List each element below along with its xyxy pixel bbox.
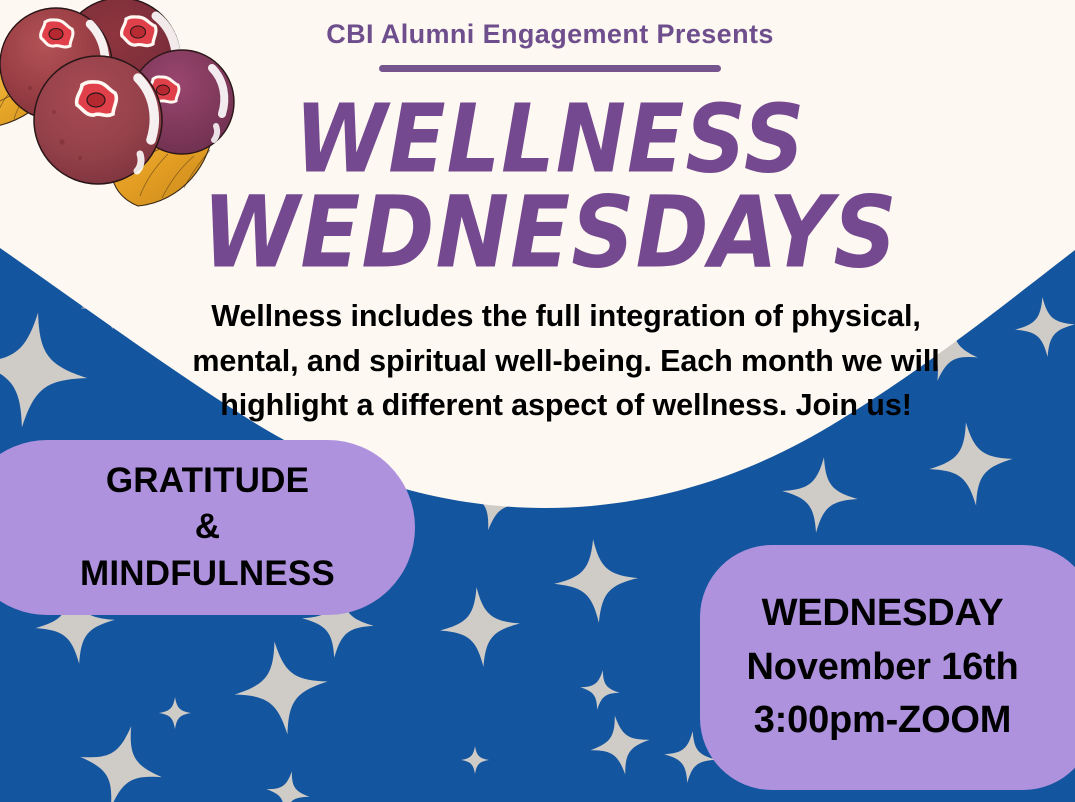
event-date: November 16th bbox=[747, 641, 1019, 695]
topic-line-3: MINDFULNESS bbox=[80, 551, 335, 598]
body-paragraph: Wellness includes the full integration o… bbox=[190, 294, 942, 428]
event-time-platform: 3:00pm-ZOOM bbox=[754, 694, 1012, 748]
title-line-2: WEDNESDAYS bbox=[180, 185, 920, 282]
presenter-line: CBI Alumni Engagement Presents bbox=[210, 18, 890, 50]
header-block: CBI Alumni Engagement Presents bbox=[210, 18, 890, 72]
berry-front-center bbox=[34, 56, 162, 184]
event-day: WEDNESDAY bbox=[762, 587, 1004, 641]
event-datetime-badge: WEDNESDAY November 16th 3:00pm-ZOOM bbox=[700, 545, 1075, 790]
divider-rule bbox=[379, 65, 721, 72]
title-line-1: WELLNESS bbox=[180, 93, 920, 185]
poster-canvas: CBI Alumni Engagement Presents WELLNESS … bbox=[0, 0, 1075, 802]
topic-line-2: & bbox=[195, 504, 220, 551]
topic-badge: GRATITUDE & MINDFULNESS bbox=[0, 440, 415, 615]
topic-line-1: GRATITUDE bbox=[106, 458, 309, 505]
page-title: WELLNESS WEDNESDAYS bbox=[180, 93, 920, 282]
